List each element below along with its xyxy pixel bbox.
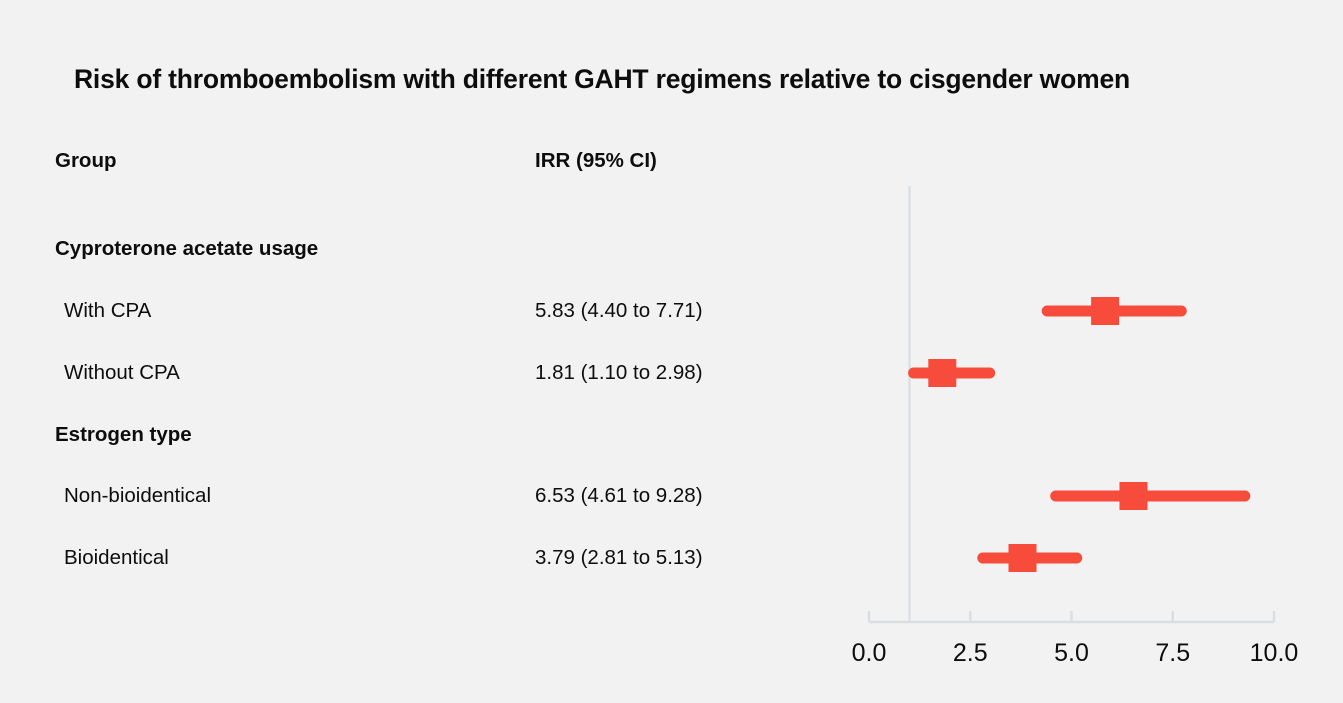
column-header-irr: IRR (95% CI) xyxy=(535,148,657,174)
row-section-label: Estrogen type xyxy=(55,422,192,448)
row-irr-value: 3.79 (2.81 to 5.13) xyxy=(535,545,703,571)
chart-title: Risk of thromboembolism with different G… xyxy=(74,62,1130,96)
column-header-group: Group xyxy=(55,148,117,174)
point-estimate-marker xyxy=(1091,297,1119,325)
point-estimate-marker xyxy=(1119,482,1147,510)
forest-plot-svg: 0.02.55.07.510.0 xyxy=(0,0,1343,703)
x-axis-tick-label: 7.5 xyxy=(1155,639,1190,667)
forest-row-1 xyxy=(1047,297,1181,325)
row-irr-value: 5.83 (4.40 to 7.71) xyxy=(535,298,703,324)
chart-title-semi: relative to cisgender women xyxy=(772,64,1130,94)
x-axis-tick-label: 2.5 xyxy=(953,639,988,667)
chart-title-strong: Risk of thromboembolism with different G… xyxy=(74,64,772,94)
x-axis-tick-label: 5.0 xyxy=(1054,639,1089,667)
row-irr-value: 1.81 (1.10 to 2.98) xyxy=(535,360,703,386)
forest-row-5 xyxy=(983,544,1077,572)
row-item-label: Non-bioidentical xyxy=(64,483,211,509)
forest-row-2 xyxy=(914,359,990,387)
row-item-label: With CPA xyxy=(64,298,151,324)
forest-row-4 xyxy=(1056,482,1245,510)
point-estimate-marker xyxy=(1008,544,1036,572)
plot-area: 0.02.55.07.510.0 xyxy=(0,0,1343,703)
point-estimate-marker xyxy=(928,359,956,387)
row-item-label: Without CPA xyxy=(64,360,180,386)
row-irr-value: 6.53 (4.61 to 9.28) xyxy=(535,483,703,509)
x-axis-tick-label: 0.0 xyxy=(852,639,887,667)
row-item-label: Bioidentical xyxy=(64,545,169,571)
row-section-label: Cyproterone acetate usage xyxy=(55,236,318,262)
forest-plot-figure: Risk of thromboembolism with different G… xyxy=(0,0,1343,703)
x-axis-tick-label: 10.0 xyxy=(1250,639,1299,667)
